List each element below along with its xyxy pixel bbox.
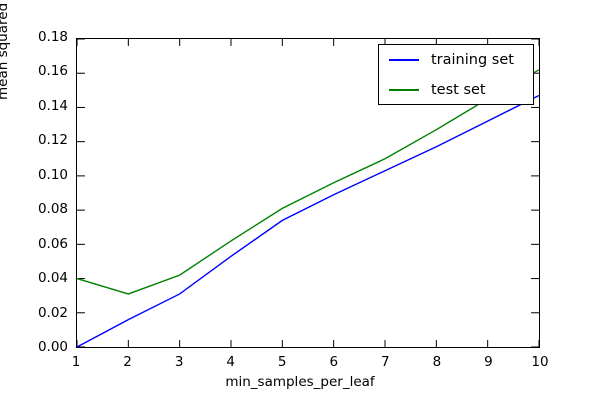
y-tick-label: 0.18: [0, 29, 68, 45]
y-tick-label: 0.16: [0, 63, 68, 79]
y-tick-label: 0.08: [0, 201, 68, 217]
chart-legend[interactable]: training set test set: [378, 44, 534, 105]
y-tick-label: 0.14: [0, 98, 68, 114]
x-tick-label: 5: [262, 354, 302, 370]
y-axis-label: mean squared error: [0, 0, 11, 100]
y-tick-label: 0.06: [0, 236, 68, 252]
legend-item-training-set[interactable]: training set: [379, 45, 533, 75]
x-tick-label: 2: [108, 354, 148, 370]
x-tick-label: 7: [365, 354, 405, 370]
x-tick-label: 1: [56, 354, 96, 370]
x-tick-label: 6: [314, 354, 354, 370]
y-tick-label: 0.04: [0, 270, 68, 286]
y-tick-label: 0.02: [0, 305, 68, 321]
y-tick-label: 0.00: [0, 339, 68, 355]
legend-label-test-set: test set: [431, 82, 486, 98]
x-tick-label: 4: [211, 354, 251, 370]
y-tick-label: 0.12: [0, 132, 68, 148]
y-tick-label: 0.10: [0, 167, 68, 183]
matplotlib-figure: mean squared error 0.000.020.040.060.080…: [0, 0, 600, 400]
legend-label-training-set: training set: [431, 52, 514, 68]
line-training-set: [77, 95, 539, 347]
x-tick-label: 3: [159, 354, 199, 370]
legend-swatch-training-set: [389, 59, 419, 61]
legend-item-test-set[interactable]: test set: [379, 75, 533, 105]
x-tick-label: 10: [520, 354, 560, 370]
x-axis-label: min_samples_per_leaf: [0, 374, 600, 390]
x-tick-label: 9: [468, 354, 508, 370]
x-tick-label: 8: [417, 354, 457, 370]
legend-swatch-test-set: [389, 89, 419, 91]
